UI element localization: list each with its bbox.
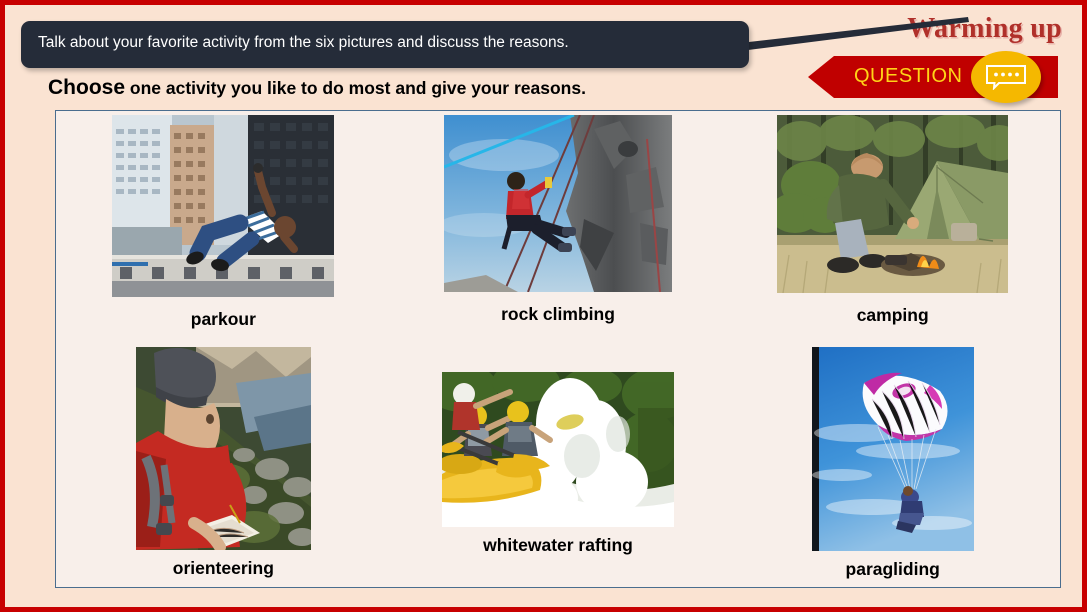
photo-paragliding[interactable] (812, 347, 974, 551)
question-banner[interactable]: QUESTION (808, 56, 1058, 98)
activity-cell-paragliding[interactable]: paragliding (725, 347, 1060, 583)
activity-row-top: parkour (56, 115, 1060, 347)
callout-pointer (740, 17, 970, 59)
activity-panel: parkour (55, 110, 1061, 588)
activity-caption: paragliding (846, 559, 940, 580)
photo-parkour[interactable] (112, 115, 334, 297)
activity-row-bottom: orienteering (56, 347, 1060, 583)
photo-rock-climbing[interactable] (444, 115, 672, 292)
activity-cell-rafting[interactable]: whitewater rafting (391, 347, 726, 583)
activity-cell-rock-climbing[interactable]: rock climbing (391, 115, 726, 347)
callout-box: Talk about your favorite activity from t… (21, 21, 749, 68)
activity-caption: rock climbing (501, 304, 615, 325)
slide-canvas: Warming up QUESTION Talk about your favo… (0, 0, 1087, 612)
instruction-lead: Choose (48, 76, 125, 99)
activity-caption: camping (857, 305, 929, 326)
activity-cell-camping[interactable]: camping (725, 115, 1060, 347)
activity-cell-orienteering[interactable]: orienteering (56, 347, 391, 583)
activity-caption: whitewater rafting (483, 535, 633, 556)
activity-caption: parkour (191, 309, 256, 330)
callout-text: Talk about your favorite activity from t… (38, 34, 569, 52)
question-label: QUESTION (854, 65, 962, 88)
instruction-line: Choose one activity you like to do most … (48, 76, 586, 100)
photo-orienteering[interactable] (136, 347, 311, 550)
activity-caption: orienteering (173, 558, 274, 579)
photo-rafting[interactable] (442, 372, 674, 527)
instruction-rest: one activity you like to do most and giv… (125, 78, 586, 98)
photo-camping[interactable] (777, 115, 1008, 293)
activity-cell-parkour[interactable]: parkour (56, 115, 391, 347)
speech-bubble-icon (985, 64, 1027, 90)
